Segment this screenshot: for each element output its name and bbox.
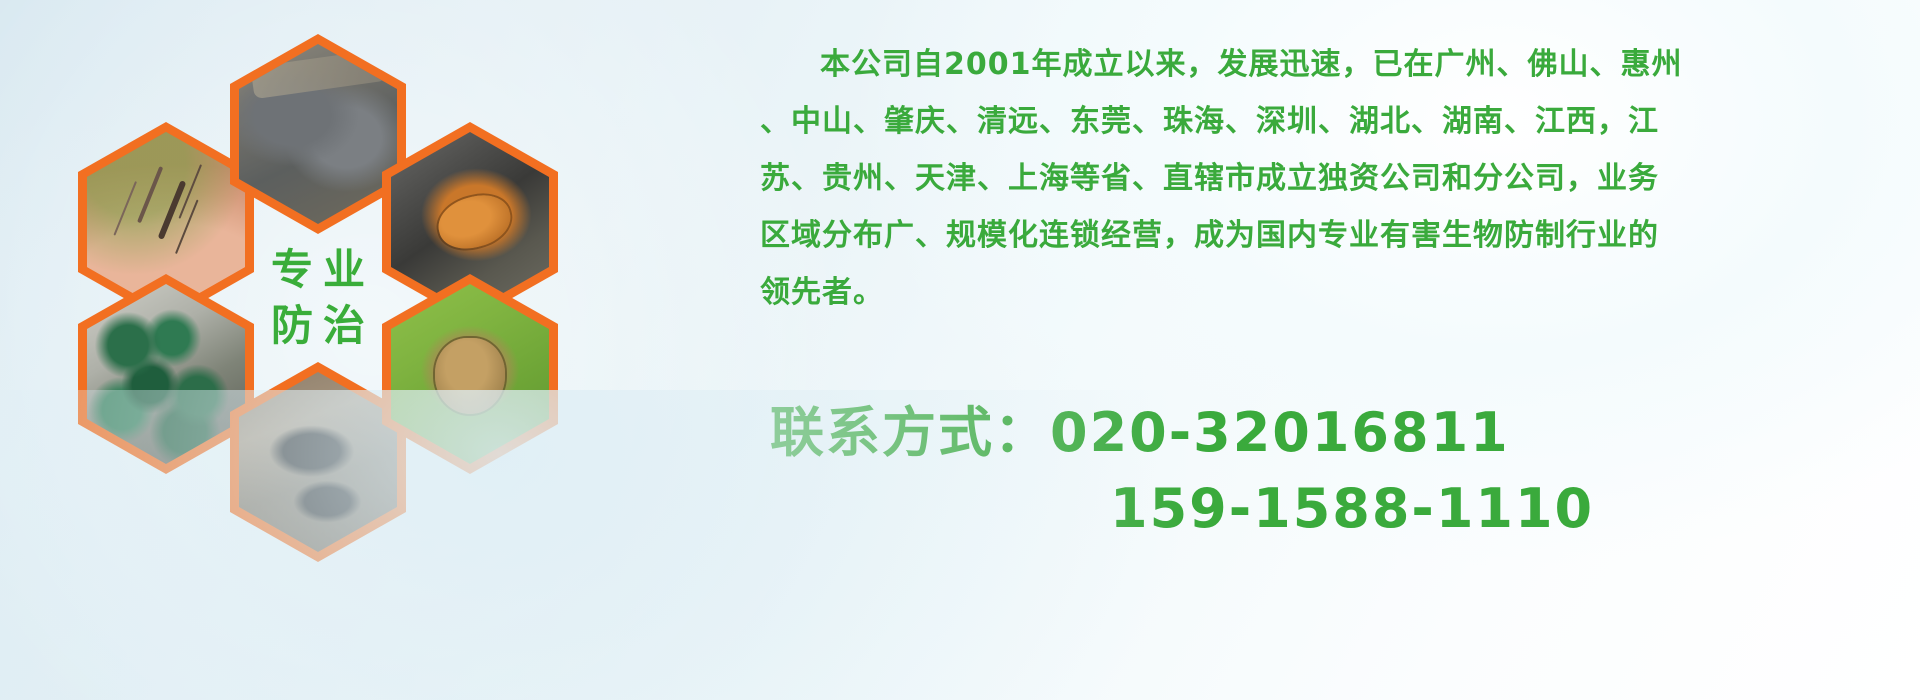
hex-tile-flies[interactable] (78, 274, 254, 474)
intro-line-5: 领先者。 (760, 264, 1880, 321)
promo-banner: 专业 防治 本公司自2001年成立以来，发展迅速，已在广州、佛山、惠州 、中山、… (0, 0, 1920, 700)
intro-line-2: 、中山、肇庆、清远、东莞、珠海、深圳、湖北、湖南、江西，江 (760, 93, 1880, 150)
intro-line-3: 苏、贵州、天津、上海等省、直辖市成立独资公司和分公司，业务 (760, 150, 1880, 207)
hex-label-line2: 防治 (261, 305, 375, 347)
contact-label: 联系方式： (770, 401, 1050, 464)
hex-tile-center-label: 专业 防治 (230, 198, 406, 398)
flies-photo (87, 284, 245, 464)
intro-line-4: 区域分布广、规模化连锁经营，成为国内专业有害生物防制行业的 (760, 207, 1880, 264)
ants-photo (239, 372, 397, 552)
company-intro-paragraph: 本公司自2001年成立以来，发展迅速，已在广州、佛山、惠州 、中山、肇庆、清远、… (760, 36, 1880, 321)
rats-photo (239, 44, 397, 224)
contact-block: 联系方式：020-32016811 159-1588-1110 (770, 395, 1594, 547)
contact-phone-secondary[interactable]: 159-1588-1110 (770, 471, 1594, 547)
hex-label-line1: 专业 (261, 249, 375, 291)
contact-phone-primary[interactable]: 020-32016811 (1050, 401, 1510, 464)
hex-tile-stinkbug[interactable] (382, 274, 558, 474)
contact-primary-row: 联系方式：020-32016811 (770, 395, 1594, 471)
hexagon-photo-cluster: 专业 防治 (78, 4, 588, 564)
stinkbug-photo (391, 284, 549, 464)
intro-line-1: 本公司自2001年成立以来，发展迅速，已在广州、佛山、惠州 (760, 36, 1880, 93)
